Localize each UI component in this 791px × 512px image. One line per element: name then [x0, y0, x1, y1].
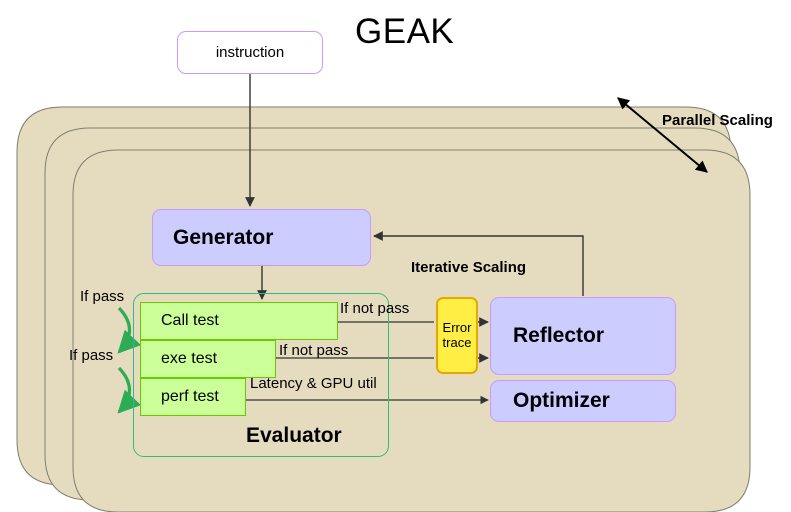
label-latency-gpu-util: Latency & GPU util	[250, 375, 377, 392]
label-if-not-pass-call-test: If not pass	[340, 300, 409, 317]
label-if-pass-second: If pass	[69, 347, 113, 364]
node-call-test-label: Call test	[161, 312, 219, 330]
node-error-trace-label-line1: Error	[443, 321, 472, 336]
label-if-not-pass-exe-test: If not pass	[279, 342, 348, 359]
diagram-canvas: GEAK Parallel Scaling instruction Genera…	[0, 0, 791, 512]
node-optimizer[interactable]: Optimizer	[490, 380, 676, 422]
node-optimizer-label: Optimizer	[513, 389, 610, 413]
group-evaluator-label: Evaluator	[246, 424, 342, 448]
label-parallel-scaling: Parallel Scaling	[662, 112, 773, 129]
node-perf-test[interactable]: perf test	[140, 378, 246, 416]
label-if-pass-first: If pass	[80, 288, 124, 305]
node-instruction-label: instruction	[216, 44, 284, 61]
node-exe-test[interactable]: exe test	[140, 340, 276, 378]
node-generator[interactable]: Generator	[152, 209, 371, 266]
node-error-trace-label-line2: trace	[443, 336, 472, 351]
diagram-title: GEAK	[355, 12, 454, 52]
node-error-trace[interactable]: Error trace	[436, 297, 478, 374]
node-generator-label: Generator	[173, 226, 273, 250]
node-reflector[interactable]: Reflector	[490, 297, 676, 375]
label-iterative-scaling: Iterative Scaling	[411, 259, 526, 276]
node-instruction[interactable]: instruction	[177, 31, 323, 74]
node-exe-test-label: exe test	[161, 350, 217, 368]
node-perf-test-label: perf test	[161, 388, 219, 406]
diagram-graphics-layer	[0, 0, 791, 512]
node-reflector-label: Reflector	[513, 324, 604, 348]
node-call-test[interactable]: Call test	[140, 302, 338, 340]
